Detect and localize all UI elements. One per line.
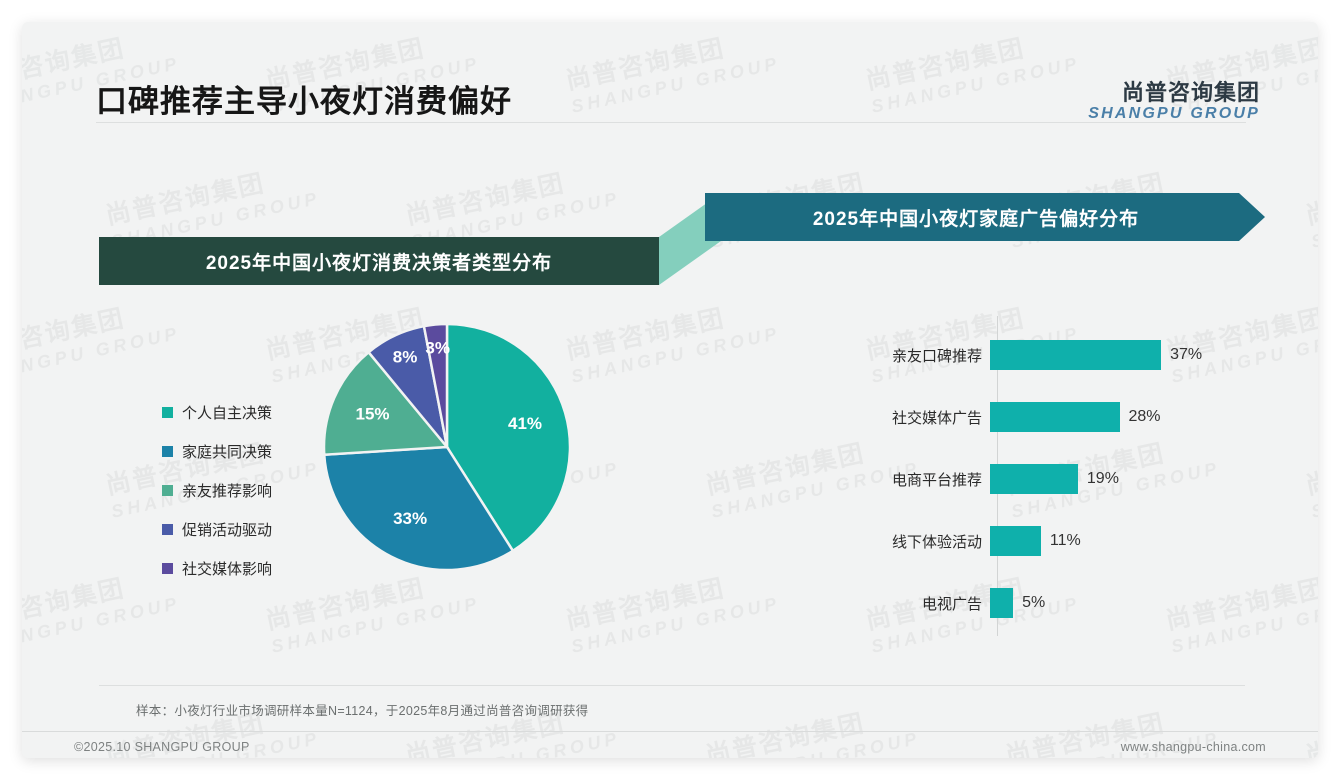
bar-value-label: 11% <box>1050 532 1081 550</box>
watermark-text: 尚普咨询集团SHANGPU GROUP <box>702 693 922 758</box>
slide-header: 口碑推荐主导小夜灯消费偏好 尚普咨询集团 SHANGPU GROUP <box>22 22 1318 122</box>
page-title: 口碑推荐主导小夜灯消费偏好 <box>96 76 512 121</box>
legend-item[interactable]: 促销活动驱动 <box>162 519 272 540</box>
footer-copyright: ©2025.10 SHANGPU GROUP <box>74 740 250 754</box>
pie-slice-label: 8% <box>393 347 418 366</box>
legend-swatch-icon <box>162 563 173 574</box>
logo-english-text: SHANGPU GROUP <box>1088 105 1260 123</box>
pie-slice-label: 15% <box>355 404 389 423</box>
bar-value-label: 37% <box>1170 346 1202 364</box>
bar-row[interactable]: 线下体验活动11% <box>822 526 1081 556</box>
pie-legend: 个人自主决策家庭共同决策亲友推荐影响促销活动驱动社交媒体影响 <box>162 402 272 597</box>
bar-rect[interactable] <box>990 526 1041 556</box>
header-divider <box>96 122 1246 123</box>
bar-rect[interactable] <box>990 402 1120 432</box>
legend-item-label: 家庭共同决策 <box>182 441 272 462</box>
bar-row[interactable]: 电视广告5% <box>822 588 1045 618</box>
bar-value-label: 5% <box>1022 594 1045 612</box>
bar-rect[interactable] <box>990 464 1078 494</box>
legend-item[interactable]: 家庭共同决策 <box>162 441 272 462</box>
legend-item-label: 个人自主决策 <box>182 402 272 423</box>
bar-value-label: 28% <box>1129 408 1161 426</box>
bar-row[interactable]: 亲友口碑推荐37% <box>822 340 1202 370</box>
company-logo: 尚普咨询集团 SHANGPU GROUP <box>1088 80 1260 124</box>
pie-slice-label: 41% <box>508 414 542 433</box>
legend-item-label: 社交媒体影响 <box>182 558 272 579</box>
bar-rect[interactable] <box>990 588 1013 618</box>
pie-slices <box>324 324 570 570</box>
bar-category-label: 线下体验活动 <box>822 531 990 552</box>
bar-value-label: 19% <box>1087 470 1119 488</box>
bar-row[interactable]: 电商平台推荐19% <box>822 464 1119 494</box>
legend-swatch-icon <box>162 485 173 496</box>
bar-category-label: 电商平台推荐 <box>822 469 990 490</box>
legend-item[interactable]: 个人自主决策 <box>162 402 272 423</box>
pie-slice-label: 33% <box>393 509 427 528</box>
legend-item[interactable]: 社交媒体影响 <box>162 558 272 579</box>
legend-swatch-icon <box>162 524 173 535</box>
bar-chart-panel: 亲友口碑推荐37%社交媒体广告28%电商平台推荐19%线下体验活动11%电视广告… <box>822 312 1282 672</box>
legend-swatch-icon <box>162 407 173 418</box>
bar-category-label: 亲友口碑推荐 <box>822 345 990 366</box>
watermark-text: 尚普咨询集团SHANGPU GROUP <box>1302 153 1318 253</box>
footer-website[interactable]: www.shangpu-china.com <box>1121 740 1266 754</box>
pie-slice-label: 3% <box>425 338 450 357</box>
bar-row[interactable]: 社交媒体广告28% <box>822 402 1161 432</box>
logo-chinese-text: 尚普咨询集团 <box>1088 80 1260 105</box>
left-chart-banner: 2025年中国小夜灯消费决策者类型分布 <box>99 237 659 285</box>
pie-chart: 41%33%15%8%3% <box>322 322 572 572</box>
legend-item[interactable]: 亲友推荐影响 <box>162 480 272 501</box>
footnote-divider <box>99 685 1245 686</box>
pie-chart-panel: 个人自主决策家庭共同决策亲友推荐影响促销活动驱动社交媒体影响 41%33%15%… <box>82 312 662 672</box>
slide: 尚普咨询集团SHANGPU GROUP尚普咨询集团SHANGPU GROUP尚普… <box>22 22 1318 758</box>
footer-divider <box>22 731 1318 732</box>
sample-footnote: 样本：小夜灯行业市场调研样本量N=1124，于2025年8月通过尚普咨询调研获得 <box>136 700 588 719</box>
right-chart-banner: 2025年中国小夜灯家庭广告偏好分布 <box>705 193 1265 241</box>
watermark-text: 尚普咨询集团SHANGPU GROUP <box>1302 693 1318 758</box>
bar-rect[interactable] <box>990 340 1161 370</box>
watermark-text: 尚普咨询集团SHANGPU GROUP <box>1302 423 1318 523</box>
bar-category-label: 电视广告 <box>822 593 990 614</box>
legend-item-label: 促销活动驱动 <box>182 519 272 540</box>
legend-swatch-icon <box>162 446 173 457</box>
legend-item-label: 亲友推荐影响 <box>182 480 272 501</box>
bar-category-label: 社交媒体广告 <box>822 407 990 428</box>
pie-chart-svg: 41%33%15%8%3% <box>322 322 572 572</box>
